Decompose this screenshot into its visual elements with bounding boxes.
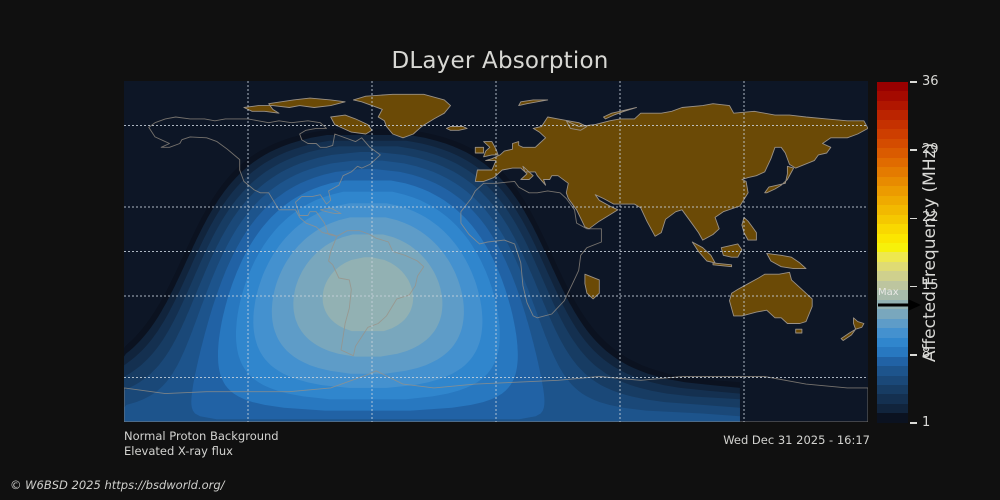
map-svg [124,81,868,422]
status-notes: Normal Proton Background Elevated X-ray … [124,429,279,459]
colorbar-band [877,300,908,309]
page-root: DLayer Absorption [0,0,1000,500]
colorbar-band [877,82,908,91]
colorbar-band [877,338,908,347]
colorbar-band [877,243,908,252]
xray-status: Elevated X-ray flux [124,444,279,459]
colorbar-band [877,366,908,375]
colorbar-band [877,328,908,337]
colorbar-band [877,196,908,205]
colorbar-band [877,215,908,224]
colorbar-band [877,309,908,318]
map-canvas [124,81,868,422]
colorbar-band [877,120,908,129]
colorbar-band [877,129,908,138]
colorbar-band [877,404,908,413]
landmass-tasmania [796,329,802,333]
colorbar-band [877,139,908,148]
colorbar-band [877,186,908,195]
proton-status: Normal Proton Background [124,429,279,444]
timestamp: Wed Dec 31 2025 - 16:17 [540,433,870,447]
colorbar-band [877,271,908,280]
colorbar-band [877,376,908,385]
colorbar-band [877,158,908,167]
colorbar-band [877,91,908,100]
colorbar-band [877,101,908,110]
colorbar-band [877,224,908,233]
colorbar-band [877,205,908,214]
colorbar-band [877,281,908,290]
colorbar-band [877,234,908,243]
colorbar-gradient [877,82,908,423]
page-title: DLayer Absorption [0,48,1000,74]
colorbar-band [877,385,908,394]
colorbar-band [877,110,908,119]
colorbar-band [877,167,908,176]
colorbar[interactable]: 1815222936 [877,82,908,423]
colorbar-band [877,319,908,328]
colorbar-band [877,148,908,157]
colorbar-band [877,252,908,261]
colorbar-axis-label: Affected Frequency (MHz) [915,82,946,423]
colorbar-band [877,357,908,366]
landmass-ireland [475,147,483,153]
world-map[interactable] [124,81,868,422]
colorbar-band [877,177,908,186]
colorbar-band [877,290,908,299]
colorbar-band [877,262,908,271]
colorbar-band [877,413,908,422]
footer-credit: © W6BSD 2025 https://bsdworld.org/ [10,478,225,492]
colorbar-band [877,394,908,403]
colorbar-band [877,347,908,356]
